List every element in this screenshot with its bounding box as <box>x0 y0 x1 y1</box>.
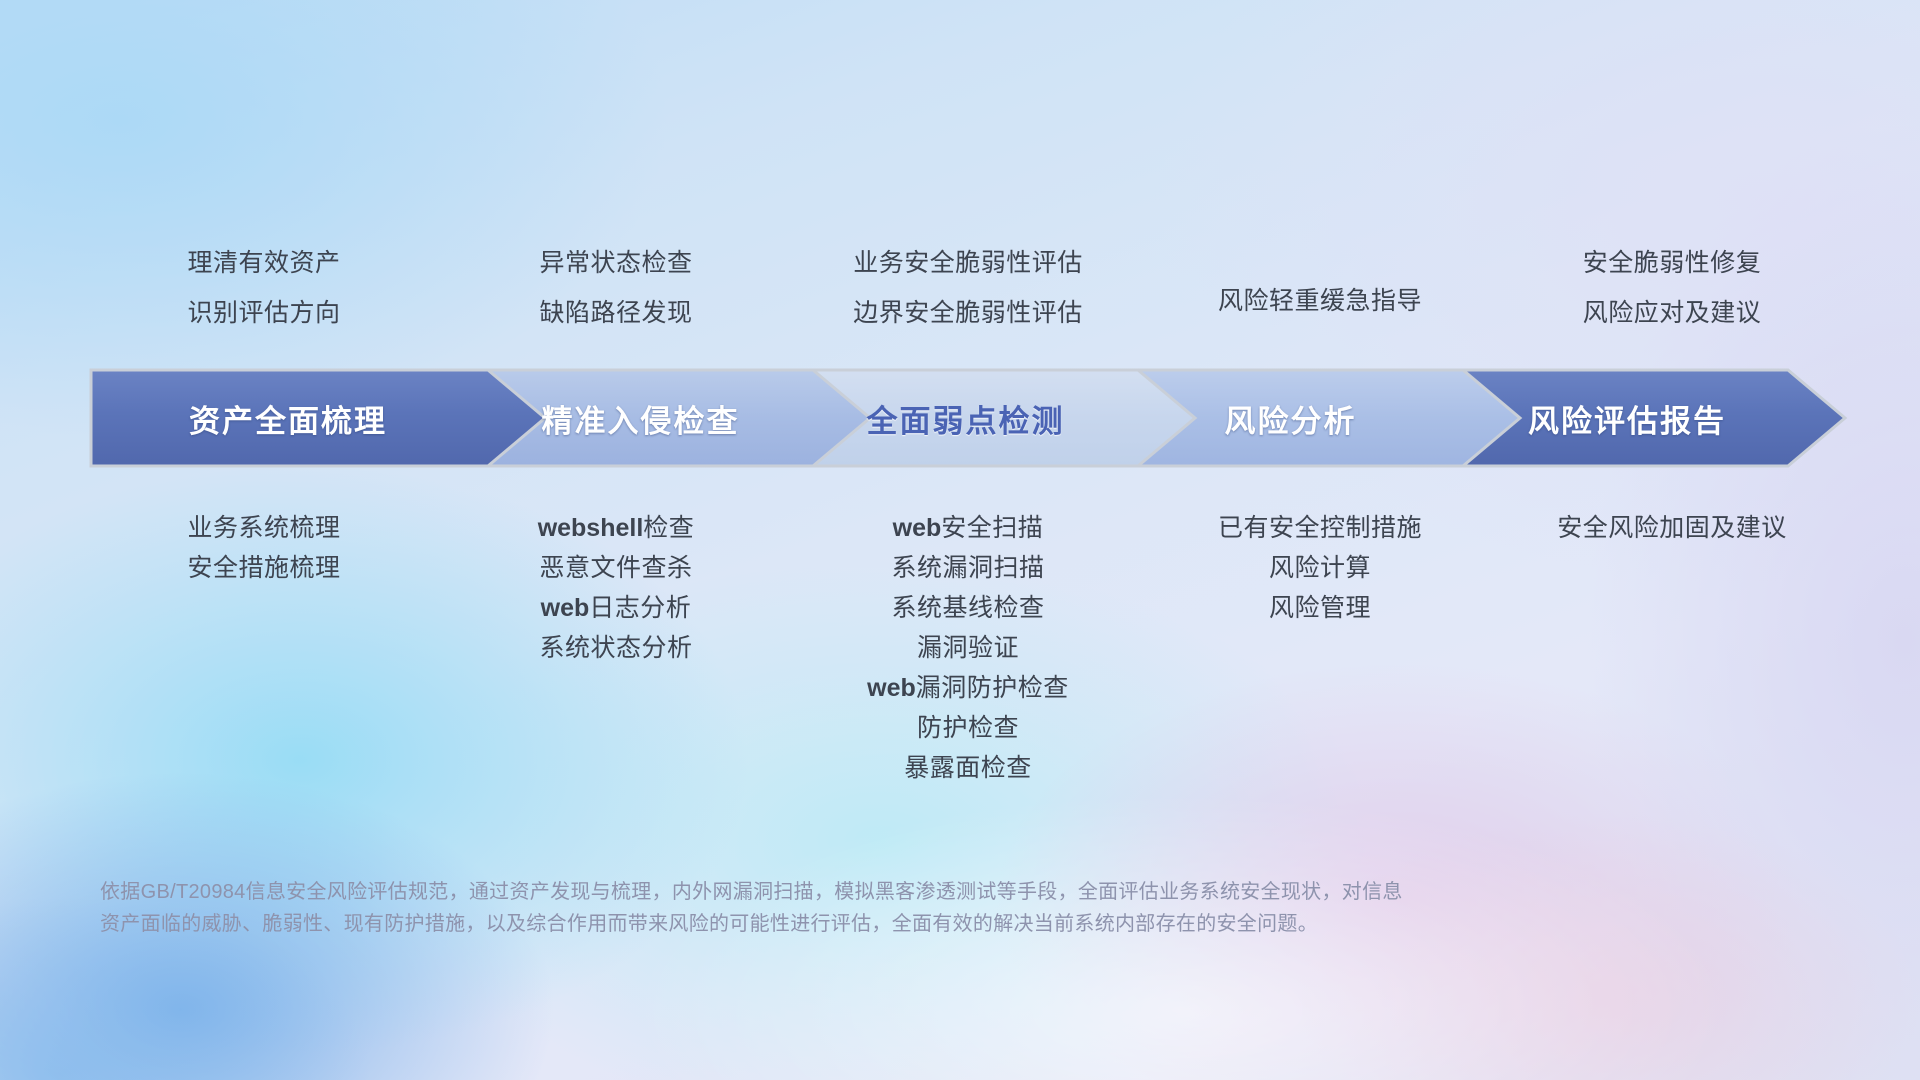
list-item-text: 恶意文件查杀 <box>539 554 692 582</box>
list-item-text: 系统基线检查 <box>891 594 1044 622</box>
list-item-text: 系统状态分析 <box>539 634 692 662</box>
list-item: 风险计算 <box>1269 548 1371 588</box>
list-item: web安全扫描 <box>893 508 1044 548</box>
top-caption: 安全脆弱性修复 <box>1583 238 1762 288</box>
chevron-label-stage-3[interactable]: 全面弱点检测 <box>793 368 1138 468</box>
slide-canvas: 理清有效资产 识别评估方向 异常状态检查 缺陷路径发现 业务安全脆弱性评估 边界… <box>0 0 1920 1080</box>
bottom-lists-row: 业务系统梳理 安全措施梳理 webshell检查 恶意文件查杀 web日志分析 … <box>88 508 1848 788</box>
list-item: 安全措施梳理 <box>187 548 340 588</box>
list-item-text: 防护检查 <box>917 714 1019 742</box>
top-caption: 异常状态检查 <box>539 238 692 288</box>
top-caption: 边界安全脆弱性评估 <box>853 288 1083 338</box>
bottom-list-stage-1: 业务系统梳理 安全措施梳理 <box>88 508 440 788</box>
list-item-text: 风险管理 <box>1269 594 1371 622</box>
footer-line-2: 资产面临的威胁、脆弱性、现有防护措施，以及综合作用而带来风险的可能性进行评估，全… <box>100 908 1640 940</box>
list-item: 恶意文件查杀 <box>539 548 692 588</box>
list-item-text: 安全措施梳理 <box>187 554 340 582</box>
list-item: 风险管理 <box>1269 588 1371 628</box>
list-item: 业务系统梳理 <box>187 508 340 548</box>
list-item-lead: web <box>867 674 916 702</box>
list-item-text: 安全扫描 <box>941 514 1043 542</box>
list-item: web漏洞防护检查 <box>867 668 1069 708</box>
top-captions-stage-3: 业务安全脆弱性评估 边界安全脆弱性评估 <box>792 238 1144 338</box>
top-captions-stage-2: 异常状态检查 缺陷路径发现 <box>440 238 792 338</box>
list-item-text: 业务系统梳理 <box>187 514 340 542</box>
list-item-text: 安全风险加固及建议 <box>1557 514 1787 542</box>
list-item-text: 漏洞防护检查 <box>916 674 1069 702</box>
list-item: 安全风险加固及建议 <box>1557 508 1787 548</box>
list-item: 系统漏洞扫描 <box>891 548 1044 588</box>
list-item-lead: web <box>893 514 942 542</box>
list-item-text: 检查 <box>643 514 694 542</box>
top-caption: 识别评估方向 <box>187 288 340 338</box>
list-item: web日志分析 <box>541 588 692 628</box>
list-item-lead: webshell <box>538 514 644 542</box>
list-item-lead: web <box>541 594 590 622</box>
list-item-text: 日志分析 <box>589 594 691 622</box>
footer-line-1: 依据GB/T20984信息安全风险评估规范，通过资产发现与梳理，内外网漏洞扫描，… <box>100 876 1640 908</box>
list-item: 已有安全控制措施 <box>1218 508 1422 548</box>
list-item-text: 暴露面检查 <box>904 754 1032 782</box>
bottom-list-stage-4: 已有安全控制措施 风险计算 风险管理 <box>1144 508 1496 788</box>
top-captions-stage-5: 安全脆弱性修复 风险应对及建议 <box>1496 238 1848 338</box>
top-caption: 缺陷路径发现 <box>539 288 692 338</box>
chevron-label-stage-4[interactable]: 风险分析 <box>1118 368 1463 468</box>
chevron-label-stage-5[interactable]: 风险评估报告 <box>1443 368 1811 468</box>
chevron-label-stage-2[interactable]: 精准入侵检查 <box>468 368 813 468</box>
top-caption: 业务安全脆弱性评估 <box>853 238 1083 288</box>
list-item: 防护检查 <box>917 708 1019 748</box>
bottom-list-stage-3: web安全扫描 系统漏洞扫描 系统基线检查 漏洞验证 web漏洞防护检查 防护检… <box>792 508 1144 788</box>
list-item-text: 风险计算 <box>1269 554 1371 582</box>
top-caption: 理清有效资产 <box>187 238 340 288</box>
top-captions-stage-1: 理清有效资产 识别评估方向 <box>88 238 440 338</box>
list-item: 系统基线检查 <box>891 588 1044 628</box>
list-item: 漏洞验证 <box>917 628 1019 668</box>
list-item: 暴露面检查 <box>904 748 1032 788</box>
list-item: 系统状态分析 <box>539 628 692 668</box>
list-item-text: 漏洞验证 <box>917 634 1019 662</box>
list-item: webshell检查 <box>538 508 695 548</box>
bottom-list-stage-2: webshell检查 恶意文件查杀 web日志分析 系统状态分析 <box>440 508 792 788</box>
chevron-label-stage-1[interactable]: 资产全面梳理 <box>88 368 488 468</box>
top-captions-row: 理清有效资产 识别评估方向 异常状态检查 缺陷路径发现 业务安全脆弱性评估 边界… <box>88 238 1848 338</box>
top-caption: 风险应对及建议 <box>1583 288 1762 338</box>
footer-description: 依据GB/T20984信息安全风险评估规范，通过资产发现与梳理，内外网漏洞扫描，… <box>100 876 1640 940</box>
top-caption: 风险轻重缓急指导 <box>1218 276 1422 326</box>
bottom-list-stage-5: 安全风险加固及建议 <box>1496 508 1848 788</box>
list-item-text: 已有安全控制措施 <box>1218 514 1422 542</box>
top-captions-stage-4: 风险轻重缓急指导 <box>1144 238 1496 338</box>
list-item-text: 系统漏洞扫描 <box>891 554 1044 582</box>
